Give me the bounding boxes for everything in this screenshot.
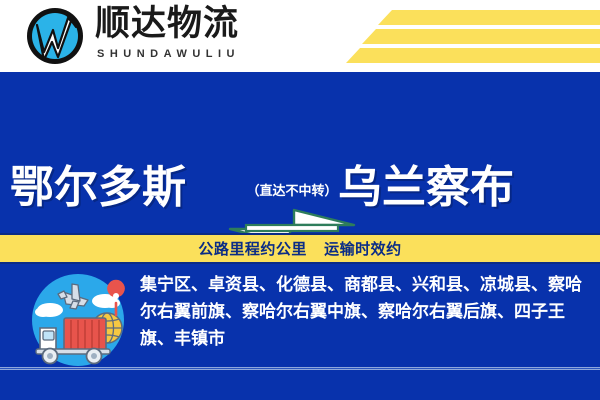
brand-name-cn: 顺达物流 bbox=[95, 4, 240, 44]
logo-swoosh-shape bbox=[24, 5, 86, 67]
brand-name-en: SHUNDAWULIU bbox=[97, 47, 240, 61]
diagonal-stripes-icon bbox=[340, 0, 600, 72]
swoosh-circle-logo-icon bbox=[24, 5, 86, 67]
coverage-area-list: 集宁区、卓资县、化德县、商都县、兴和县、凉城县、察哈尔右翼前旗、察哈尔右翼中旗、… bbox=[140, 272, 582, 353]
brand-logo-group: 顺达物流 SHUNDAWULIU bbox=[24, 4, 240, 67]
route-section: 鄂尔多斯 （直达不中转） 【往返运输】 乌兰察布 bbox=[0, 72, 600, 233]
coverage-section: 集宁区、卓资县、化德县、商都县、兴和县、凉城县、察哈尔右翼前旗、察哈尔右翼中旗、… bbox=[0, 264, 600, 400]
banner-header: 顺达物流 SHUNDAWULIU bbox=[0, 0, 600, 72]
direct-service-note: （直达不中转） bbox=[228, 180, 356, 199]
logistics-route-banner: 顺达物流 SHUNDAWULIU 鄂尔多斯 （直达不中转） 【往返运输】 bbox=[0, 0, 600, 400]
destination-city: 乌兰察布 bbox=[338, 162, 514, 214]
distance-duration-band: 公路里程约公里 运输时效约 bbox=[0, 233, 600, 264]
origin-city: 鄂尔多斯 bbox=[10, 162, 186, 214]
brand-text-group: 顺达物流 SHUNDAWULIU bbox=[95, 4, 240, 61]
distance-duration-text: 公路里程约公里 运输时效约 bbox=[198, 238, 401, 259]
truck-plane-globe-illustration-icon bbox=[22, 270, 134, 374]
bottom-divider bbox=[0, 367, 600, 370]
